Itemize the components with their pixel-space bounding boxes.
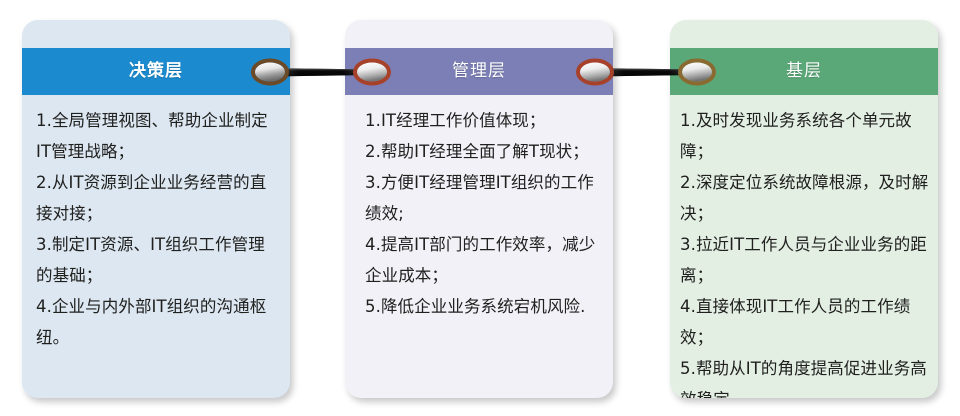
card-frontline-header: 基层 bbox=[670, 48, 938, 95]
list-item: 1.及时发现业务系统各个单元故障； bbox=[680, 105, 930, 167]
card-management[interactable]: 管理层 1.IT经理工作价值体现； 2.帮助IT经理全面了解T现状； 3.方便I… bbox=[345, 20, 613, 398]
card-frontline-body: 1.及时发现业务系统各个单元故障； 2.深度定位系统故障根源，及时解决； 3.拉… bbox=[670, 105, 938, 398]
list-item: 4.提高IT部门的工作效率，减少企业成本； bbox=[365, 229, 599, 291]
card-management-title: 管理层 bbox=[452, 63, 506, 80]
list-item: 5.降低企业业务系统宕机风险. bbox=[365, 291, 599, 322]
card-decision[interactable]: 决策层 1.全局管理视图、帮助企业制定IT管理战略； 2.从IT资源到企业业务经… bbox=[22, 20, 290, 398]
card-decision-body: 1.全局管理视图、帮助企业制定IT管理战略； 2.从IT资源到企业业务经营的直接… bbox=[22, 105, 290, 353]
card-decision-title: 决策层 bbox=[129, 63, 183, 80]
list-item: 2.帮助IT经理全面了解T现状； bbox=[365, 136, 599, 167]
list-item: 1.全局管理视图、帮助企业制定IT管理战略； bbox=[36, 105, 276, 167]
list-item: 3.方便IT经理管理IT组织的工作绩效; bbox=[365, 167, 599, 229]
list-item: 2.从IT资源到企业业务经营的直接对接； bbox=[36, 167, 276, 229]
card-management-body: 1.IT经理工作价值体现； 2.帮助IT经理全面了解T现状； 3.方便IT经理管… bbox=[345, 105, 613, 322]
list-item: 2.深度定位系统故障根源，及时解决； bbox=[680, 167, 930, 229]
card-management-header: 管理层 bbox=[345, 48, 613, 95]
card-decision-header: 决策层 bbox=[22, 48, 290, 95]
diagram-canvas: 决策层 1.全局管理视图、帮助企业制定IT管理战略； 2.从IT资源到企业业务经… bbox=[0, 0, 960, 416]
list-item: 1.IT经理工作价值体现； bbox=[365, 105, 599, 136]
list-item: 3.制定IT资源、IT组织工作管理的基础； bbox=[36, 229, 276, 291]
list-item: 5.帮助从IT的角度提高促进业务高效稳定。 bbox=[680, 353, 930, 398]
list-item: 3.拉近IT工作人员与企业业务的距离； bbox=[680, 229, 930, 291]
list-item: 4.直接体现IT工作人员的工作绩效； bbox=[680, 291, 930, 353]
card-frontline-title: 基层 bbox=[786, 63, 822, 80]
list-item: 4.企业与内外部IT组织的沟通枢纽。 bbox=[36, 291, 276, 353]
card-frontline[interactable]: 基层 1.及时发现业务系统各个单元故障； 2.深度定位系统故障根源，及时解决； … bbox=[670, 20, 938, 398]
